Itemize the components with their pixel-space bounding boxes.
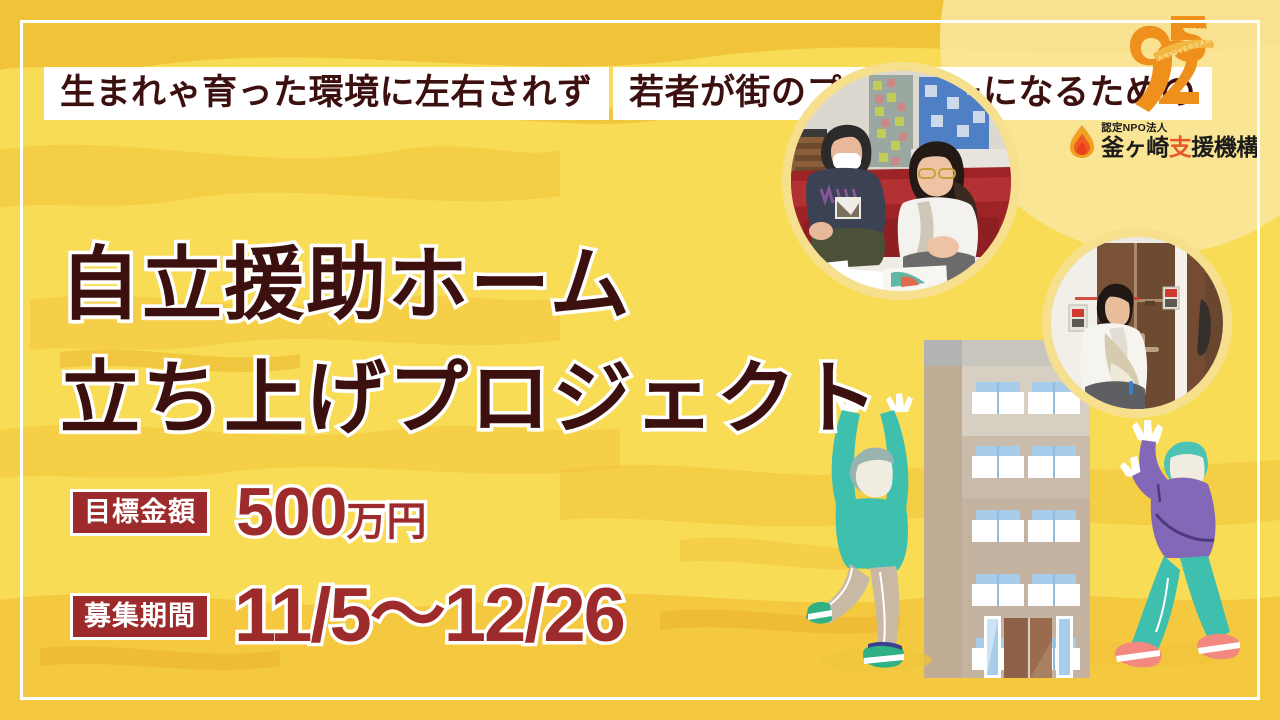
npo-kicker: 認定NPO法人 [1101, 123, 1259, 134]
lead-copy: 生まれゃ育った環境に左右されず 若者が街のプレイヤーになるための [44, 56, 1212, 120]
goal-amount-badge: 目標金額 [70, 489, 210, 536]
anniversary-25th-icon: ANNIVERSARY TH [1109, 12, 1219, 117]
person-waving-illustration [1112, 418, 1242, 690]
apartment-building-illustration [918, 340, 1090, 692]
npo-name-part2: 援機構 [1191, 134, 1259, 160]
period-value: 11/5～12/26 [234, 578, 624, 654]
page-title: 自立援助ホーム 立ち上げプロジェクト [60, 228, 880, 455]
campaign-info: 目標金額 500万円 募集期間 11/5～12/26 [70, 480, 624, 648]
poster-root: 生まれゃ育った環境に左右されず 若者が街のプレイヤーになるための 自立援助ホーム… [0, 0, 1280, 720]
title-line-2: 立ち上げプロジェクト [60, 342, 880, 456]
goal-amount-value: 500万円 [236, 478, 426, 546]
npo-name-accent: 支 [1169, 134, 1192, 160]
photo-person-at-door [1042, 228, 1232, 418]
title-line-1: 自立援助ホーム [60, 228, 880, 342]
period-badge: 募集期間 [70, 593, 210, 640]
anniversary-th-text: TH [1195, 21, 1207, 31]
lead-line-1: 生まれゃ育った環境に左右されず [44, 67, 609, 120]
period-row: 募集期間 11/5～12/26 [70, 584, 624, 648]
npo-name-lockup: 認定NPO法人 釜ヶ崎支援機構 [1074, 123, 1254, 159]
npo-name-part1: 釜ヶ崎 [1101, 134, 1169, 160]
organization-logo-block: ANNIVERSARY TH 認定NPO法人 釜ヶ崎支援機構 [1074, 12, 1254, 159]
goal-amount-row: 目標金額 500万円 [70, 480, 624, 544]
photo-two-people-on-sofa [782, 62, 1020, 300]
npo-name: 釜ヶ崎支援機構 [1101, 136, 1259, 159]
goal-amount-number: 500 [236, 474, 346, 550]
flame-icon [1069, 124, 1095, 158]
goal-amount-unit: 万円 [346, 500, 426, 544]
npo-text-block: 認定NPO法人 釜ヶ崎支援機構 [1101, 123, 1259, 159]
